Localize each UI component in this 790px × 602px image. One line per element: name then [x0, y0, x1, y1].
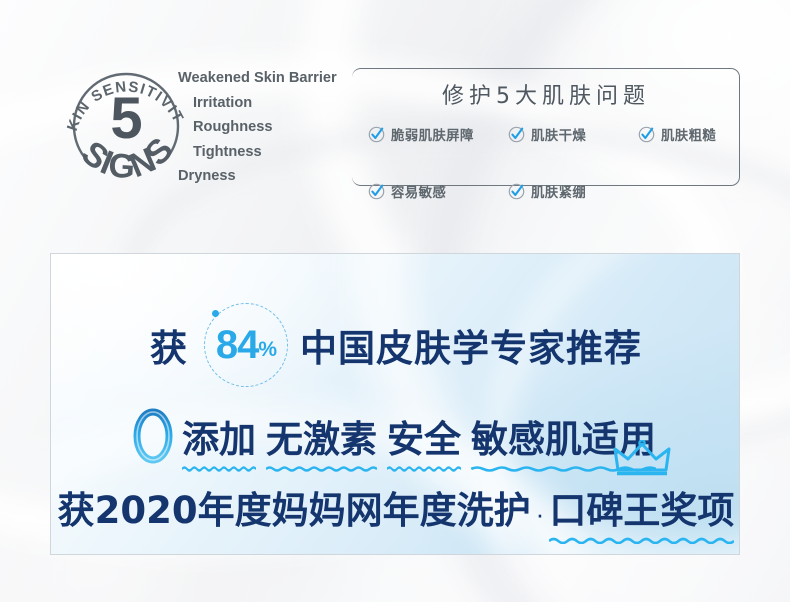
- repair-panel-title: 修护5大肌肤问题: [352, 78, 740, 110]
- percent-number: 84: [216, 323, 259, 367]
- checklist-label: 肌肤紧绷: [531, 181, 586, 201]
- badge-number: 5: [62, 90, 190, 148]
- checklist-item: 肌肤粗糙: [638, 124, 716, 144]
- award-name-group: 口碑王奖项: [549, 480, 734, 534]
- check-circle-icon: [508, 126, 525, 143]
- wave-underline: [387, 465, 461, 472]
- claim1-suffix: 中国皮肤学专家推荐: [300, 318, 642, 372]
- check-circle-icon: [368, 126, 385, 143]
- claim-line-recommendation: 获 84% 中国皮肤学专家推荐: [51, 297, 740, 393]
- symptom-item: Tightness: [178, 140, 368, 165]
- additive-word-label: 添加: [182, 418, 256, 461]
- wave-underline: [182, 465, 256, 472]
- checklist-row: 容易敏感肌肤紧绷: [368, 156, 736, 181]
- claim1-prefix: 获: [150, 318, 188, 372]
- additive-word: 安全: [387, 409, 461, 463]
- percent-badge: 84%: [198, 297, 294, 393]
- checklist-label: 脆弱肌肤屏障: [391, 124, 474, 144]
- wave-underline: [266, 465, 377, 472]
- claim3-prefix: 获2020年度妈妈网年度洗护: [58, 480, 531, 534]
- percent-value: 84%: [216, 325, 276, 365]
- checklist-item: 肌肤紧绷: [508, 181, 586, 201]
- award-name: 口碑王奖项: [549, 489, 734, 532]
- percent-symbol: %: [258, 338, 276, 361]
- symptom-item: Dryness: [178, 164, 368, 189]
- additive-word-label: 安全: [387, 418, 461, 461]
- checklist-label: 容易敏感: [391, 181, 446, 201]
- claim3-separator: ·: [536, 499, 545, 530]
- checklist-label: 肌肤粗糙: [661, 124, 716, 144]
- checklist-label: 肌肤干燥: [531, 124, 586, 144]
- promo-graphic: SKIN SENSITIVITY SIGNS 5 Weakened Skin B…: [0, 0, 790, 602]
- additive-word: 添加: [182, 409, 256, 463]
- repair-checklist: 脆弱肌肤屏障肌肤干燥肌肤粗糙容易敏感肌肤紧绷: [368, 124, 736, 188]
- accent-dot-icon: [212, 310, 219, 317]
- checklist-row: 脆弱肌肤屏障肌肤干燥肌肤粗糙: [368, 124, 736, 149]
- award-wave-underline: [549, 536, 734, 544]
- claim-line-award: 获2020年度妈妈网年度洗护 · 口碑王奖项: [51, 480, 740, 534]
- check-circle-icon: [508, 183, 525, 200]
- checklist-item: 脆弱肌肤屏障: [368, 124, 474, 144]
- checklist-item: 肌肤干燥: [508, 124, 586, 144]
- zero-additive-words: 添加无激素安全敏感肌适用: [177, 409, 661, 463]
- symptom-item: Roughness: [178, 115, 368, 140]
- check-circle-icon: [638, 126, 655, 143]
- symptom-list-english: Weakened Skin BarrierIrritationRoughness…: [178, 66, 368, 189]
- symptom-item: Weakened Skin Barrier: [178, 66, 368, 91]
- check-circle-icon: [368, 183, 385, 200]
- crown-icon: [612, 440, 672, 481]
- claims-panel: 获 84% 中国皮肤学专家推荐: [50, 253, 740, 555]
- additive-word-label: 无激素: [266, 418, 377, 461]
- additive-word: 无激素: [266, 409, 377, 463]
- symptom-item: Irritation: [178, 91, 368, 116]
- zero-ring-icon: [131, 408, 175, 464]
- skin-sensitivity-badge: SKIN SENSITIVITY SIGNS 5: [62, 56, 190, 196]
- checklist-item: 容易敏感: [368, 181, 446, 201]
